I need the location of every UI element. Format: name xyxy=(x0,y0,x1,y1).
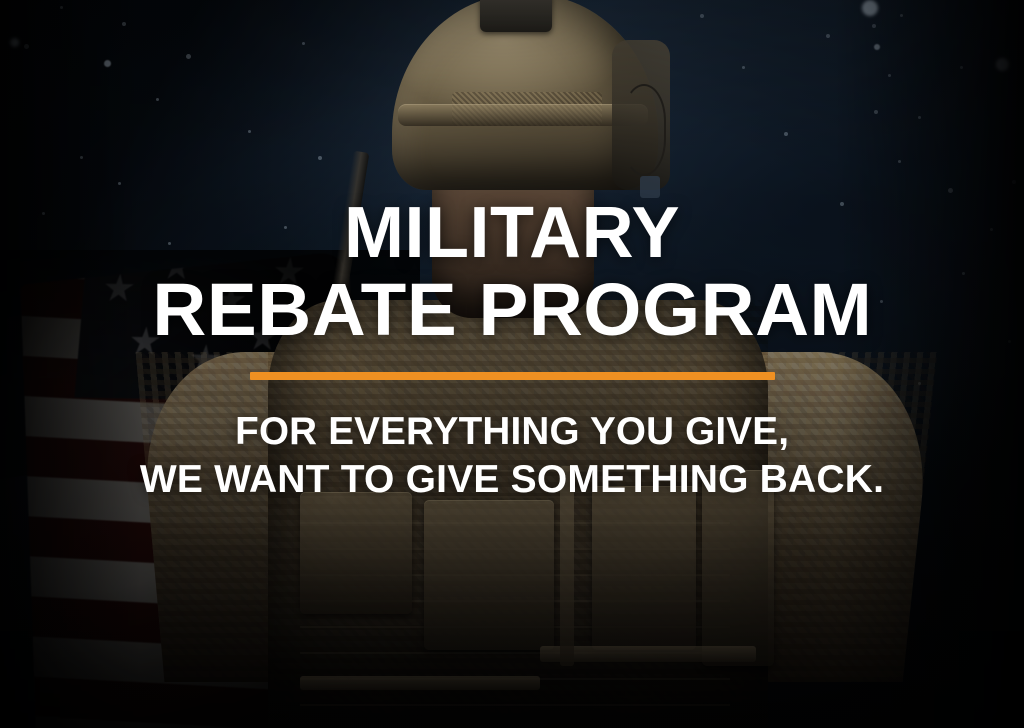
banner-headline: MILITARY REBATE PROGRAM xyxy=(156,0,869,344)
subheadline-line-1: FOR EVERYTHING YOU GIVE, xyxy=(144,410,881,454)
subheadline-line-2: WE WANT TO GIVE SOMETHING BACK. xyxy=(140,458,884,502)
military-rebate-banner: MILITARY REBATE PROGRAM FOR EVERYTHING Y… xyxy=(0,0,1024,728)
orange-divider xyxy=(250,372,775,380)
banner-subheadline: FOR EVERYTHING YOU GIVE, WE WANT TO GIVE… xyxy=(140,410,884,501)
headline-line-2: REBATE PROGRAM xyxy=(152,276,872,344)
banner-content: MILITARY REBATE PROGRAM FOR EVERYTHING Y… xyxy=(0,0,1024,728)
headline-line-1: MILITARY xyxy=(156,200,869,266)
